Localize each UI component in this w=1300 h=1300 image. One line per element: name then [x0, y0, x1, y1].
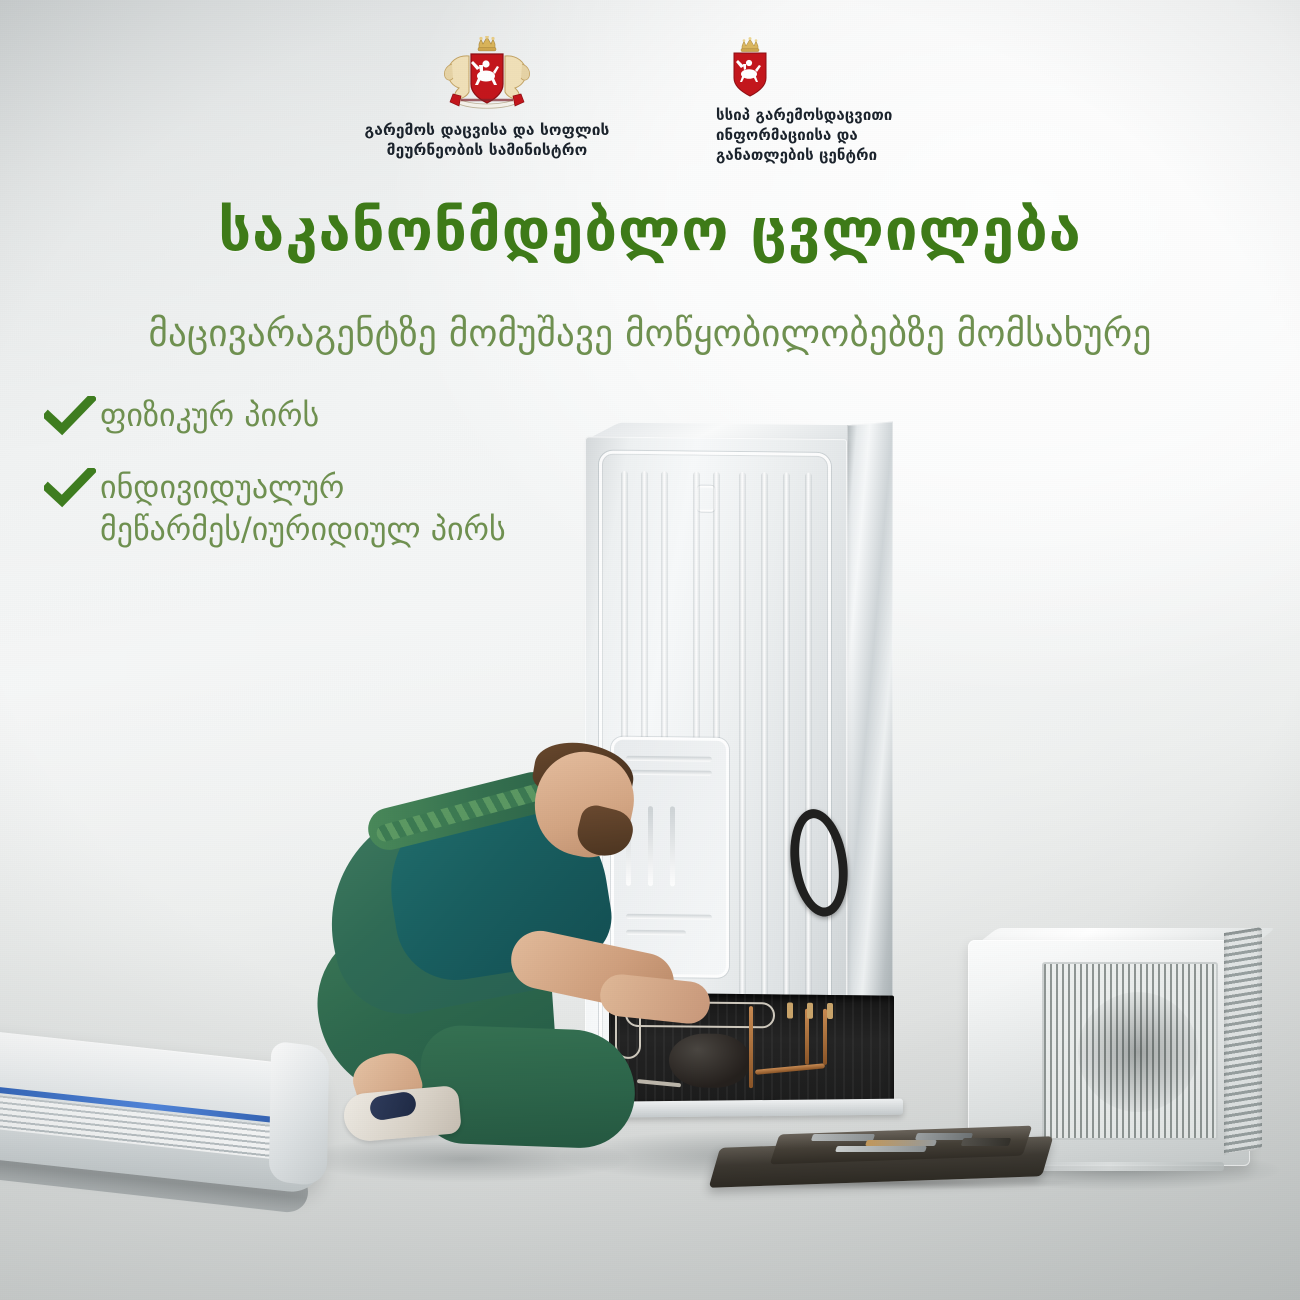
- technician-shoe-detail: [368, 1090, 417, 1122]
- tool-screwdriver: [865, 1140, 937, 1146]
- refrigerator-handle: [784, 806, 854, 920]
- compressor: [669, 1033, 751, 1088]
- technician-head: [525, 743, 642, 865]
- bullet-text: ფიზიკურ პირს: [100, 392, 319, 436]
- ac-outdoor-grille: [1042, 962, 1218, 1140]
- ac-indoor-louvers: [0, 1093, 294, 1162]
- ac-indoor-body: [0, 1029, 322, 1195]
- technician-arm: [506, 925, 679, 1016]
- ac-outdoor-body: [968, 940, 1250, 1166]
- check-icon: [44, 464, 100, 510]
- acout-floor-shadow: [960, 1150, 1280, 1190]
- poster-canvas: გარემოს დაცვისა და სოფლის მეურნეობის სამ…: [0, 0, 1300, 1300]
- refrigerator-ribs: [615, 471, 830, 1048]
- page-subtitle: მაცივარაგენტზე მომუშავე მოწყობილობებზე მ…: [0, 312, 1300, 355]
- technician-beard: [573, 802, 637, 862]
- ac-outdoor-side-fins: [1224, 927, 1262, 1155]
- list-item: ინდივიდუალურ მეწარმეს/იურიდიულ პირს: [44, 464, 604, 550]
- copper-tube: [805, 1009, 809, 1065]
- ac-indoor-end-cap: [269, 1041, 329, 1188]
- copper-tube: [823, 1009, 827, 1065]
- technician-overall-strap: [364, 768, 559, 855]
- wiring: [827, 1003, 833, 1019]
- tool-handle: [961, 1138, 1012, 1146]
- toolbox-tray-upper: [770, 1126, 1033, 1165]
- wiring: [637, 1079, 681, 1087]
- header-logos: გარემოს დაცვისა და სოფლის მეურნეობის სამ…: [0, 36, 1300, 165]
- technician-forearm: [598, 972, 712, 1025]
- condenser-coil: [615, 997, 641, 1059]
- page-title: საკანონმდებლო ცვლილება: [0, 196, 1300, 264]
- refrigerator-top: [585, 423, 885, 443]
- ac-indoor-underside: [0, 1137, 308, 1214]
- wiring: [807, 1003, 813, 1019]
- compressor-bay-lip: [603, 1099, 903, 1118]
- bullet-text: ინდივიდუალურ მეწარმეს/იურიდიულ პირს: [100, 464, 506, 550]
- refrigerator: [585, 436, 890, 1129]
- toolbox-tray-lower: [709, 1136, 1054, 1188]
- technician-overalls-leg: [418, 1024, 637, 1149]
- refrigerator-groove: [599, 451, 831, 1061]
- condenser-coil: [625, 1001, 775, 1029]
- background-grain: [0, 0, 1300, 1300]
- technician-overalls-back: [311, 782, 595, 1026]
- technician-hair: [530, 736, 638, 809]
- copper-tube: [749, 1006, 753, 1088]
- list-item: ფიზიკურ პირს: [44, 392, 604, 438]
- technician-tshirt: [377, 772, 618, 988]
- tool-pliers: [915, 1133, 973, 1140]
- org-block-ministry: გარემოს დაცვისა და სოფლის მეურნეობის სამ…: [332, 36, 642, 161]
- org-block-center: სსიპ გარემოსდაცვითი ინფორმაციისა და განა…: [708, 36, 968, 165]
- tool-socket-set: [835, 1146, 927, 1152]
- check-icon: [44, 392, 100, 438]
- background-vignette: [0, 0, 1300, 1300]
- technician-overall-strap-detail: [375, 782, 548, 844]
- fridge-floor-shadow: [560, 1130, 960, 1182]
- bullet-list: ფიზიკურ პირს ინდივიდუალურ მეწარმეს/იურიდ…: [44, 392, 604, 576]
- ac-outdoor-base: [994, 1162, 1224, 1171]
- ac-indoor-unit: [0, 1048, 330, 1268]
- technician-overalls-hip: [312, 914, 559, 1105]
- refrigerator-side-panel: [847, 422, 893, 1098]
- technician-shoe: [342, 1085, 462, 1143]
- compressor-bay: [609, 993, 894, 1108]
- photo-scene: [0, 0, 1300, 1300]
- technician: [310, 742, 690, 1182]
- refrigerator-vent: [697, 486, 715, 512]
- copper-tube: [755, 1063, 825, 1075]
- worker-floor-shadow: [300, 1136, 630, 1182]
- ac-indoor-accent-stripe: [0, 1084, 302, 1126]
- technician-foot: [347, 1045, 426, 1117]
- tool-wrench: [811, 1134, 875, 1141]
- refrigerator-back-panel: [585, 436, 847, 1099]
- georgia-shield-crown-icon: [722, 36, 778, 98]
- refrigerator-access-plate: [611, 737, 729, 978]
- wiring: [787, 1003, 793, 1019]
- toolbox: [716, 1124, 1082, 1194]
- georgia-coat-of-arms-full-icon: [435, 36, 539, 114]
- org-name-center: სსიპ გარემოსდაცვითი ინფორმაციისა და განა…: [708, 106, 892, 165]
- ac-outdoor-unit: [968, 922, 1268, 1190]
- org-name-ministry: გარემოს დაცვისა და სოფლის მეურნეობის სამ…: [365, 120, 610, 161]
- ac-outdoor-top: [972, 928, 1276, 948]
